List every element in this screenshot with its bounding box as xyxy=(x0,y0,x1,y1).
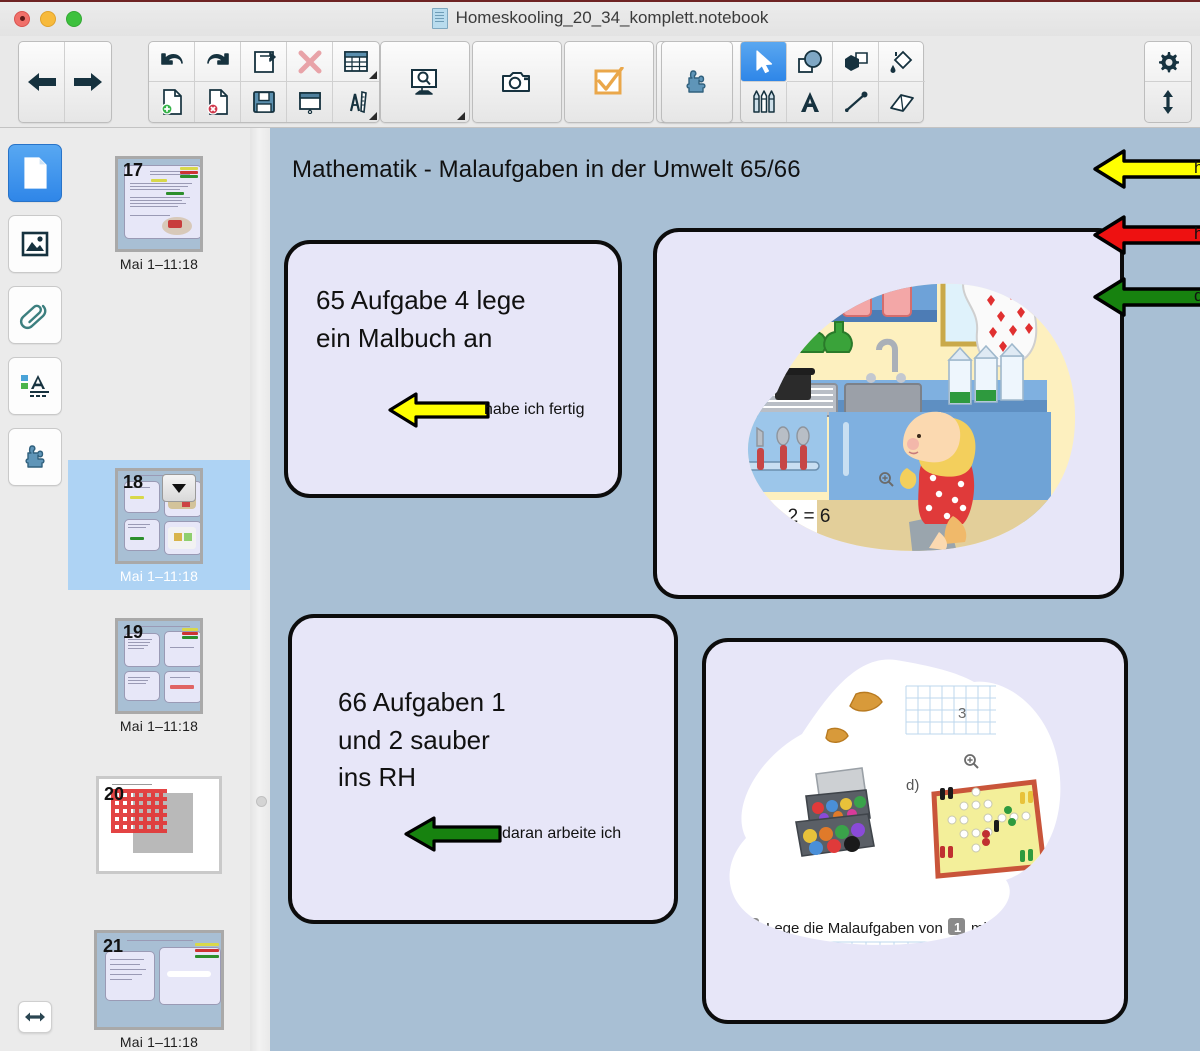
yellow-arrow-65 xyxy=(388,392,490,428)
toolbar-group-view xyxy=(380,41,470,123)
next-page-button[interactable] xyxy=(65,42,111,122)
application-window: Homeskooling_20_34_komplett.notebook xyxy=(0,0,1200,1051)
worksheet-instruction-a: Lege die Malaufgaben von xyxy=(766,920,943,937)
expand-pane-button[interactable] xyxy=(18,1001,52,1033)
worksheet-ellipsis: ... xyxy=(770,719,783,736)
pane-divider[interactable] xyxy=(250,128,271,1051)
image-icon xyxy=(20,230,50,258)
paperclip-icon xyxy=(19,300,51,330)
measurement-tools-button[interactable] xyxy=(333,82,379,122)
green-arrow-66 xyxy=(404,816,502,852)
toolbar-group-tools xyxy=(740,41,924,123)
toolbar-group-edit xyxy=(148,41,380,123)
shape-select-tool[interactable] xyxy=(787,42,833,82)
kitchen-illustration-card[interactable]: + 2 + 2 = 6 2 = 6 6 xyxy=(653,228,1124,599)
legend-yellow-label: h xyxy=(1194,158,1200,178)
thumbnail-item[interactable]: 18 Mai 1–11:18 xyxy=(68,460,250,590)
svg-text:1: 1 xyxy=(954,920,961,935)
eraser-tool[interactable] xyxy=(879,82,925,122)
kitchen-illustration: + 2 + 2 = 6 2 = 6 6 xyxy=(657,232,1112,587)
fill-tool[interactable] xyxy=(879,42,925,82)
legend-green-label: d xyxy=(1194,286,1200,306)
new-page-button[interactable] xyxy=(149,82,195,122)
screen-capture-button[interactable] xyxy=(473,42,559,122)
magnifier-view-button[interactable] xyxy=(381,42,467,122)
thumbnail-caption: Mai 1–11:18 xyxy=(68,718,250,734)
delete-page-button[interactable] xyxy=(195,82,241,122)
insert-table-button[interactable] xyxy=(333,42,379,82)
thumbnail-caption: Mai 1–11:18 xyxy=(68,1034,250,1050)
window-title: Homeskooling_20_34_komplett.notebook xyxy=(456,8,769,28)
worksheet-label-d: d) xyxy=(906,777,919,794)
green-arrow-66-label: daran arbeite ich xyxy=(502,825,621,843)
screen-shade-button[interactable] xyxy=(287,82,333,122)
shapes-tool[interactable] xyxy=(833,42,879,82)
thumbnail-item[interactable]: 21 Mai 1–11:18 xyxy=(68,930,250,1050)
yellow-arrow-65-label: habe ich fertig xyxy=(484,401,585,419)
toolbar-group-capture xyxy=(472,41,562,123)
thumbnail-item[interactable]: 20 xyxy=(68,776,250,878)
legend-green xyxy=(1092,276,1200,318)
worksheet-label-3: 3 xyxy=(958,705,966,722)
settings-button[interactable] xyxy=(1145,42,1191,82)
sidebar-rail xyxy=(0,128,69,1051)
svg-text:2 ): 2 ) xyxy=(1008,943,1024,959)
open-file-button[interactable] xyxy=(241,42,287,82)
arrows-left-right-icon xyxy=(24,1010,46,1024)
chevron-down-icon xyxy=(172,484,186,493)
line-tool[interactable] xyxy=(833,82,879,122)
move-toolbar-button[interactable] xyxy=(1145,82,1191,122)
document-icon xyxy=(432,8,448,29)
legend-yellow xyxy=(1092,148,1200,190)
thumbnail-item[interactable]: 19 Mai 1–11:18 xyxy=(68,618,250,734)
worksheet-instruction-b: mit Plättchen nach. Male in xyxy=(971,920,1116,937)
select-tool[interactable] xyxy=(741,42,787,82)
task-card-65[interactable]: 65 Aufgabe 4 lege ein Malbuch an habe ic… xyxy=(284,240,622,498)
sidebar-item-properties[interactable] xyxy=(8,357,62,415)
text-tool[interactable] xyxy=(787,82,833,122)
previous-page-button[interactable] xyxy=(19,42,65,122)
sidebar-item-gallery[interactable] xyxy=(8,215,62,273)
pens-tool[interactable] xyxy=(741,82,787,122)
svg-text:2: 2 xyxy=(746,920,753,935)
toolbar-group-addons xyxy=(661,41,733,123)
text-properties-icon xyxy=(18,372,52,400)
task-card-66-text: 66 Aufgaben 1 und 2 sauber ins RH xyxy=(338,684,506,797)
add-ons-button[interactable] xyxy=(662,42,730,122)
worksheet-label-2a: 2a) xyxy=(764,947,786,964)
thumbnail-caption: Mai 1–11:18 xyxy=(68,256,250,272)
toolbar-group-settings xyxy=(1144,41,1192,123)
page-sorter-pane[interactable]: 17 Mai 1–11:18 xyxy=(68,128,250,1051)
page-icon xyxy=(22,157,48,189)
sidebar-item-addons[interactable] xyxy=(8,428,62,486)
pane-divider-grip[interactable] xyxy=(256,796,267,807)
legend-red xyxy=(1092,214,1200,256)
response-button[interactable] xyxy=(565,42,651,122)
save-button[interactable] xyxy=(241,82,287,122)
main-toolbar xyxy=(0,36,1200,128)
title-bar: Homeskooling_20_34_komplett.notebook xyxy=(0,0,1200,37)
task-card-65-text: 65 Aufgabe 4 lege ein Malbuch an xyxy=(316,282,526,357)
undo-button[interactable] xyxy=(149,42,195,82)
thumbnail-menu-button[interactable] xyxy=(162,474,196,502)
thumbnail-caption: Mai 1–11:18 xyxy=(68,568,250,584)
sidebar-item-attachments[interactable] xyxy=(8,286,62,344)
slide-canvas[interactable]: Mathematik - Malaufgaben in der Umwelt 6… xyxy=(270,128,1200,1051)
toolbar-group-navigation xyxy=(18,41,112,123)
redo-button[interactable] xyxy=(195,42,241,82)
page-title: Mathematik - Malaufgaben in der Umwelt 6… xyxy=(292,156,801,184)
svg-text:6: 6 xyxy=(753,550,764,571)
sidebar-item-page-sorter[interactable] xyxy=(8,144,62,202)
kitchen-sum-2: 2 = 6 xyxy=(745,528,788,549)
delete-button[interactable] xyxy=(287,42,333,82)
worksheet-illustration-card[interactable]: 3 ... xyxy=(702,638,1128,1024)
toolbar-group-response xyxy=(564,41,654,123)
worksheet-illustration: 3 ... xyxy=(706,642,1116,1012)
task-card-66[interactable]: 66 Aufgaben 1 und 2 sauber ins RH daran … xyxy=(288,614,678,924)
puzzle-piece-icon xyxy=(20,443,50,471)
window-title-group: Homeskooling_20_34_komplett.notebook xyxy=(0,0,1200,36)
legend-red-label: h xyxy=(1194,224,1200,244)
kitchen-sum-1: + 2 + 2 = 6 xyxy=(739,506,830,527)
thumbnail-item[interactable]: 17 Mai 1–11:18 xyxy=(68,156,250,272)
